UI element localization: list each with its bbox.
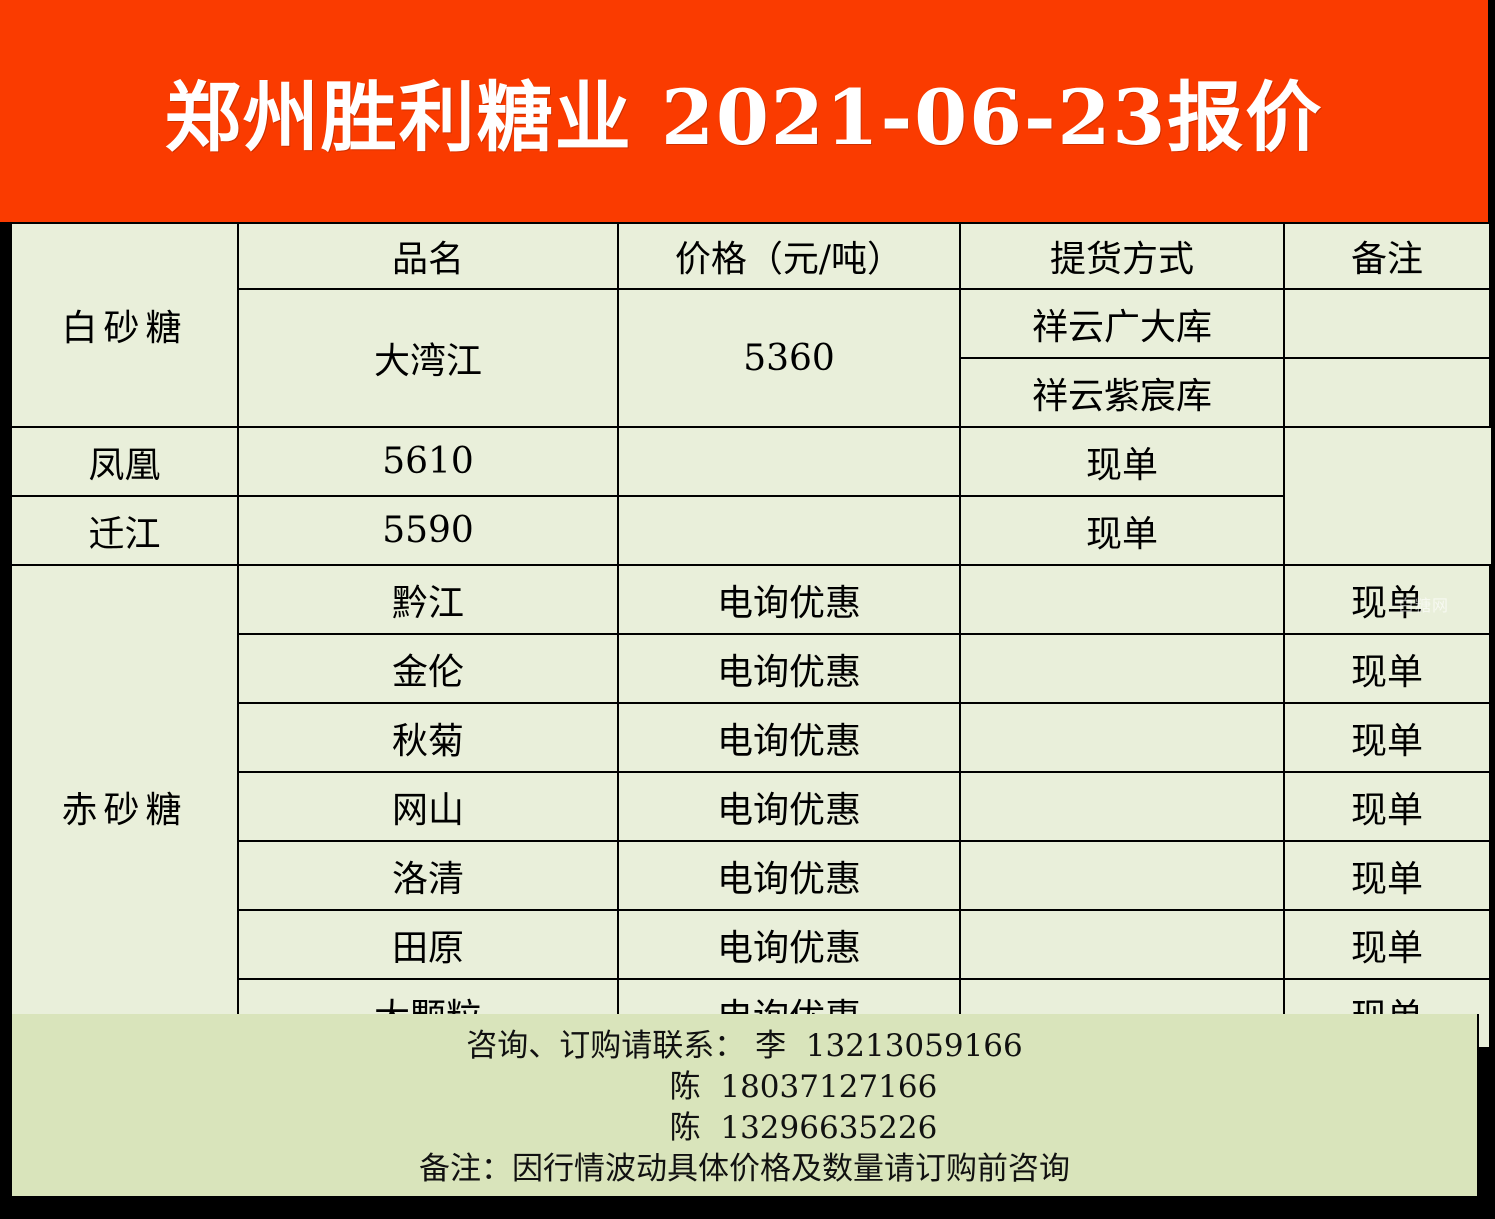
note-jinlun: 现单 bbox=[1284, 634, 1490, 703]
product-price-qianjiang-brown: 电询优惠 bbox=[618, 565, 960, 634]
delivery-fenghuang bbox=[618, 427, 960, 496]
delivery-tianyuan bbox=[960, 910, 1284, 979]
product-price-luoqing: 电询优惠 bbox=[618, 841, 960, 910]
note-daiwanjiang-1 bbox=[1284, 289, 1490, 358]
note-qianjiang-brown: 现单 bbox=[1284, 565, 1490, 634]
note-luoqing: 现单 bbox=[1284, 841, 1490, 910]
table-row: 赤砂糖 黔江 电询优惠 现单 bbox=[11, 565, 1490, 634]
quote-sheet: 郑州胜利糖业 2021-06-23报价 白砂糖 品名 价格（元/吨） 提货方式 … bbox=[0, 0, 1495, 1219]
note-wangshan: 现单 bbox=[1284, 772, 1490, 841]
product-name-daiwanjiang: 大湾江 bbox=[238, 289, 618, 427]
page-title: 郑州胜利糖业 2021-06-23报价 bbox=[165, 56, 1324, 166]
delivery-jinlun bbox=[960, 634, 1284, 703]
product-name-jinlun: 金伦 bbox=[238, 634, 618, 703]
product-price-fenghuang: 5610 bbox=[238, 427, 618, 496]
delivery-qianjiang-brown bbox=[960, 565, 1284, 634]
note-tianyuan: 现单 bbox=[1284, 910, 1490, 979]
category-cell-brown-sugar: 赤砂糖 bbox=[11, 565, 238, 1048]
header-delivery: 提货方式 bbox=[960, 223, 1284, 289]
note-qianjiang: 现单 bbox=[960, 496, 1284, 565]
price-table-container: 白砂糖 品名 价格（元/吨） 提货方式 备注 大湾江 5360 祥云广大库 祥云… bbox=[10, 222, 1483, 1049]
delivery-qianjiang bbox=[618, 496, 960, 565]
header-price: 价格（元/吨） bbox=[618, 223, 960, 289]
product-name-fenghuang: 凤凰 bbox=[11, 427, 238, 496]
delivery-xiangyun-guangda: 祥云广大库 bbox=[960, 289, 1284, 358]
title-banner: 郑州胜利糖业 2021-06-23报价 bbox=[0, 0, 1488, 222]
footer-remark-line: 备注：因行情波动具体价格及数量请订购前咨询 bbox=[12, 1149, 1477, 1190]
product-name-qiuju: 秋菊 bbox=[238, 703, 618, 772]
note-fenghuang: 现单 bbox=[960, 427, 1284, 496]
note-qiuju: 现单 bbox=[1284, 703, 1490, 772]
product-name-luoqing: 洛清 bbox=[238, 841, 618, 910]
product-price-daiwanjiang: 5360 bbox=[618, 289, 960, 427]
product-name-wangshan: 网山 bbox=[238, 772, 618, 841]
note-daiwanjiang-2 bbox=[1284, 358, 1490, 427]
product-price-qianjiang: 5590 bbox=[238, 496, 618, 565]
product-price-jinlun: 电询优惠 bbox=[618, 634, 960, 703]
table-header-row: 白砂糖 品名 价格（元/吨） 提货方式 备注 bbox=[11, 223, 1490, 289]
footer-contact-line-1: 咨询、订购请联系： 李 13213059166 bbox=[12, 1026, 1477, 1067]
table-row: 凤凰 5610 现单 bbox=[11, 427, 1490, 496]
table-row: 迁江 5590 现单 bbox=[11, 496, 1490, 565]
header-product-name: 品名 bbox=[238, 223, 618, 289]
price-table: 白砂糖 品名 价格（元/吨） 提货方式 备注 大湾江 5360 祥云广大库 祥云… bbox=[10, 222, 1491, 1049]
footer-contact-line-2: 陈 18037127166 bbox=[12, 1067, 1477, 1108]
delivery-xiangyun-zichen: 祥云紫宸库 bbox=[960, 358, 1284, 427]
product-price-qiuju: 电询优惠 bbox=[618, 703, 960, 772]
delivery-wangshan bbox=[960, 772, 1284, 841]
product-price-tianyuan: 电询优惠 bbox=[618, 910, 960, 979]
footer-contact-block: 咨询、订购请联系： 李 13213059166 陈 18037127166 陈 … bbox=[10, 1014, 1479, 1198]
product-name-tianyuan: 田原 bbox=[238, 910, 618, 979]
header-note: 备注 bbox=[1284, 223, 1490, 289]
product-price-wangshan: 电询优惠 bbox=[618, 772, 960, 841]
footer-contact-line-3: 陈 13296635226 bbox=[12, 1108, 1477, 1149]
delivery-qiuju bbox=[960, 703, 1284, 772]
delivery-luoqing bbox=[960, 841, 1284, 910]
product-name-qianjiang: 迁江 bbox=[11, 496, 238, 565]
product-name-qianjiang-brown: 黔江 bbox=[238, 565, 618, 634]
category-cell-white-sugar: 白砂糖 bbox=[11, 223, 238, 427]
